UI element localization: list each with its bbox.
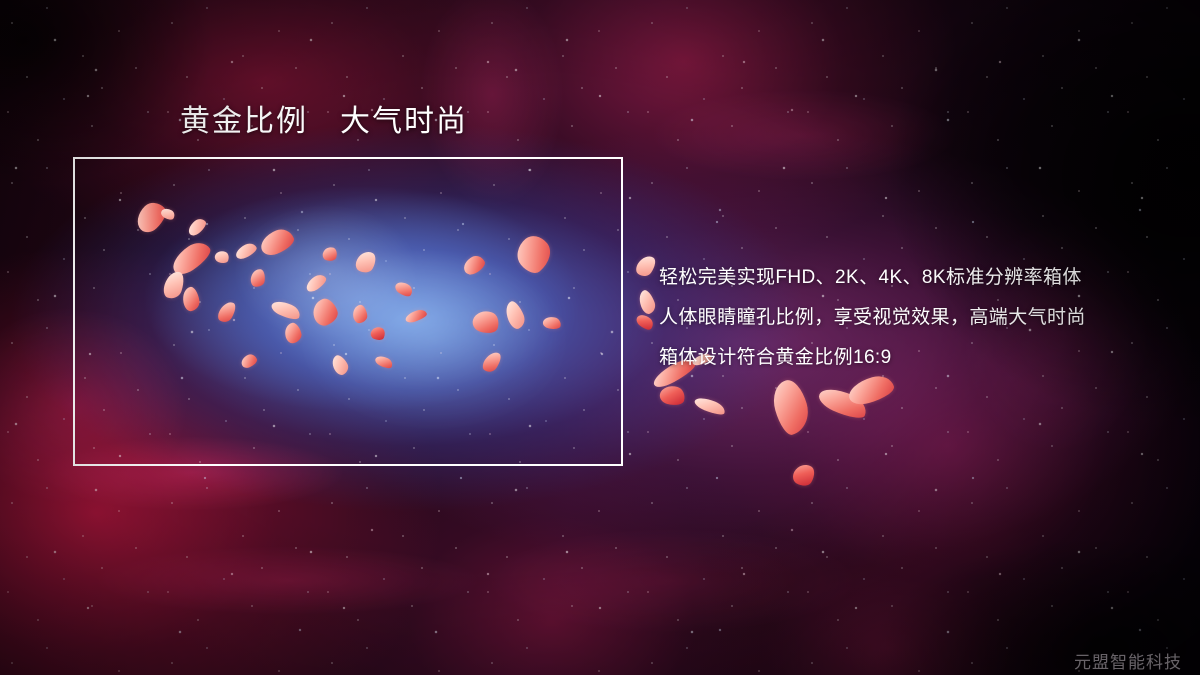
galaxy-photo-frame [73,157,623,466]
page-title: 黄金比例 大气时尚 [180,103,468,141]
presentation-slide: 黄金比例 大气时尚 轻松完美实现FHD、2K、4K、8K标准分辨率箱体 人体眼睛… [0,0,1200,675]
body-line-1: 轻松完美实现FHD、2K、4K、8K标准分辨率箱体 [659,258,1179,298]
watermark: 元盟智能科技 [1074,648,1182,673]
body-text-block: 轻松完美实现FHD、2K、4K、8K标准分辨率箱体 人体眼睛瞳孔比例，享受视觉效… [659,258,1179,378]
body-line-3: 箱体设计符合黄金比例16:9 [659,338,1179,378]
body-line-2: 人体眼睛瞳孔比例，享受视觉效果，高端大气时尚 [659,298,1179,338]
photo-inner [75,159,621,464]
